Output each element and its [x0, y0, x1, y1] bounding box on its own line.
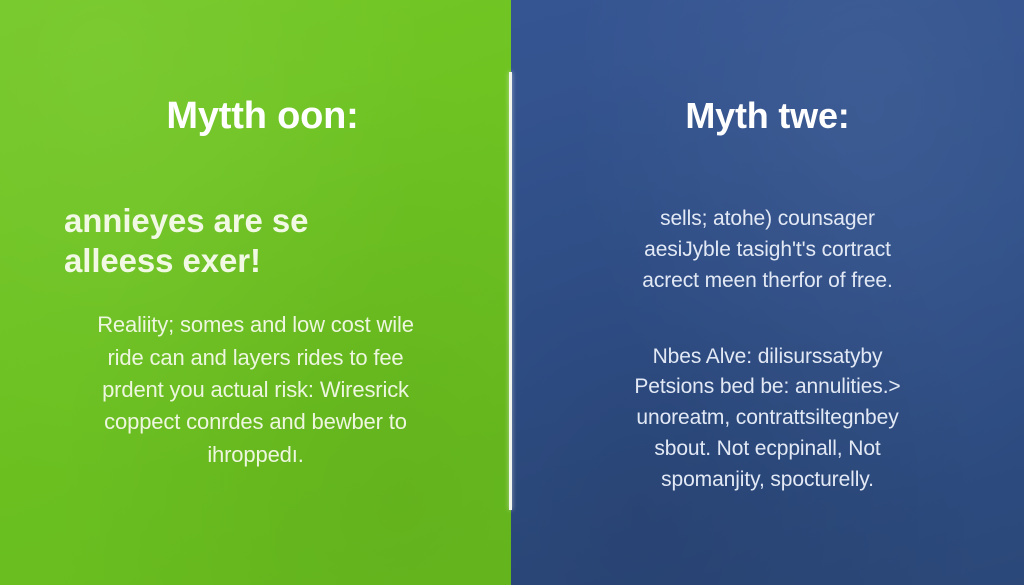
right-first-line-2: aesiJyble tasigh't's cortract [568, 235, 968, 266]
left-panel-myth-one: Mytth oon: annieyes are se alleess exer!… [0, 0, 511, 585]
right-panel-second-paragraph: Nbes Alve: dilisurssatyby Petsions bed b… [568, 342, 968, 496]
left-subheading-line-2: alleess exer! [64, 241, 308, 281]
left-panel-body: Realiity; somes and low cost wile ride c… [56, 309, 456, 471]
slide-root: Mytth oon: annieyes are se alleess exer!… [0, 0, 1024, 585]
right-second-line-4: sbout. Not ecppinall, Not [568, 434, 968, 465]
panel-divider [509, 72, 512, 510]
left-body-line-1: Realiity; somes and low cost wile [56, 309, 456, 341]
right-second-line-1: Nbes Alve: dilisurssatyby [568, 342, 968, 373]
left-body-line-5: ihroppedı. [56, 439, 456, 471]
right-second-line-5: spomanjity, spocturelly. [568, 465, 968, 496]
left-body-line-2: ride can and layers rides to fee [56, 342, 456, 374]
right-second-line-2: Petsions bed be: annulities.> [568, 372, 968, 403]
left-panel-subheading: annieyes are se alleess exer! [34, 201, 308, 281]
left-subheading-line-1: annieyes are se [64, 201, 308, 241]
right-first-line-3: acrect meen therfor of free. [568, 266, 968, 297]
right-panel-myth-two: Myth twe: sells; atohe) counsager aesiJy… [511, 0, 1024, 585]
right-panel-heading: Myth twe: [685, 97, 849, 136]
left-body-line-3: prdent you actual risk: Wiresrick [56, 374, 456, 406]
right-second-line-3: unoreatm, contrattsiltegnbey [568, 403, 968, 434]
left-body-line-4: coppect conrdes and bewber to [56, 406, 456, 438]
right-panel-first-paragraph: sells; atohe) counsager aesiJyble tasigh… [568, 204, 968, 297]
right-first-line-1: sells; atohe) counsager [568, 204, 968, 235]
left-panel-heading: Mytth oon: [152, 96, 358, 137]
